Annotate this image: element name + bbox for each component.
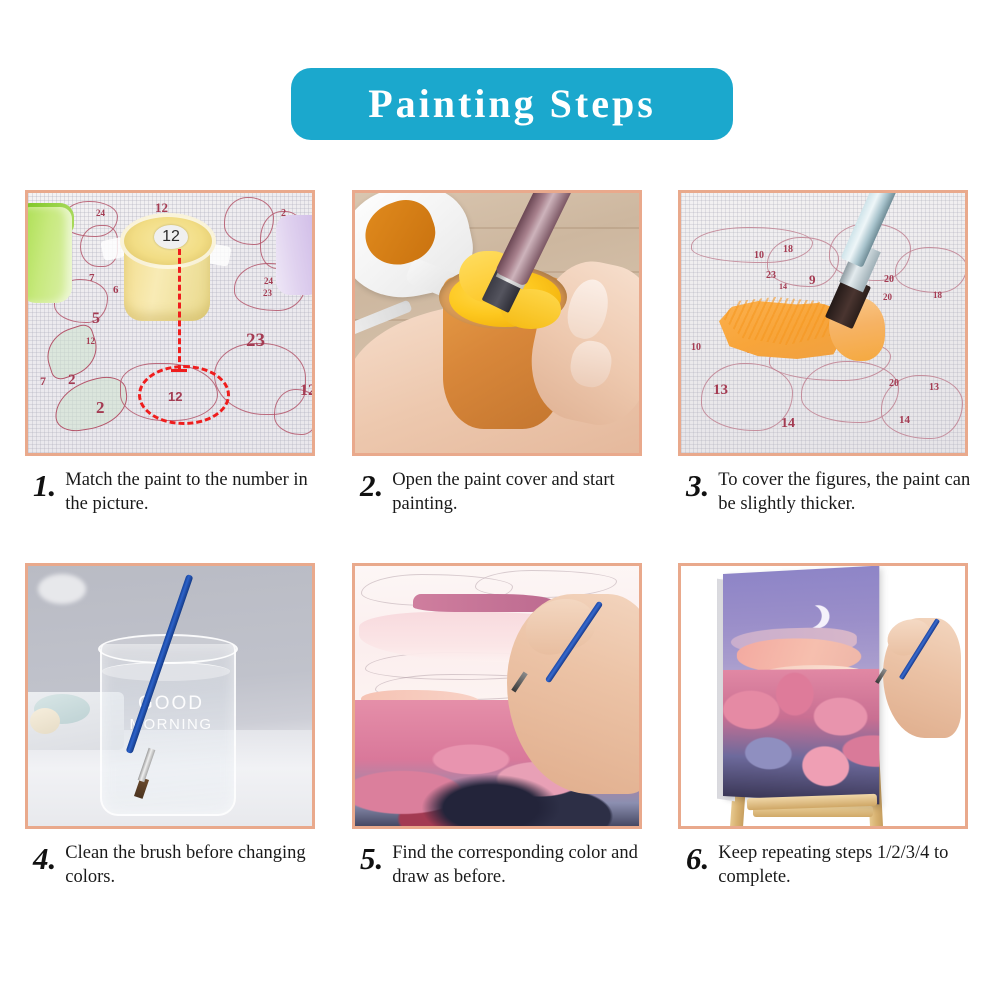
- step-text: Keep repeating steps 1/2/3/4 to complete…: [718, 841, 974, 890]
- canvas-number: 2: [68, 373, 76, 388]
- canvas-number: 9: [809, 273, 816, 286]
- canvas-number: 23: [263, 289, 272, 298]
- step-text: To cover the figures, the paint can be s…: [718, 468, 974, 517]
- water-line: [102, 662, 230, 681]
- paint-pot-number-label: 12: [154, 225, 188, 249]
- step-card-3: 10 18 23 14 9 20 18 20 13 14 20 10 20 13…: [678, 190, 974, 517]
- canvas-number: 20: [889, 379, 899, 389]
- step-number: 3.: [686, 470, 709, 501]
- canvas-number: 6: [113, 285, 119, 296]
- step-number: 6.: [686, 843, 709, 874]
- step-caption-3: 3. To cover the figures, the paint can b…: [678, 468, 974, 517]
- step-caption-2: 2. Open the paint cover and start painti…: [352, 468, 648, 517]
- step-caption-4: 4. Clean the brush before changing color…: [25, 841, 321, 890]
- paint-residue-on-lid: [357, 193, 444, 274]
- canvas-number: 24: [264, 277, 273, 286]
- step-number: 1.: [33, 470, 56, 501]
- canvas-number: 13: [929, 383, 939, 393]
- red-dashed-highlight-ellipse: [138, 365, 230, 425]
- step-card-1: 12 24 2 7 6 5 12 2 7 2 23 24 23 12: [25, 190, 321, 517]
- step-text: Open the paint cover and start painting.: [392, 468, 642, 517]
- canvas-number: 10: [754, 251, 764, 261]
- dark-pink-cloud-paint: [413, 594, 553, 612]
- step-card-6: 6. Keep repeating steps 1/2/3/4 to compl…: [678, 563, 974, 890]
- step-caption-1: 1. Match the paint to the number in the …: [25, 468, 321, 517]
- canvas-outline-shape: [895, 247, 965, 293]
- step-card-2: 2. Open the paint cover and start painti…: [352, 190, 648, 517]
- step-photo-frame-5: [352, 563, 642, 829]
- canvas-number: 12: [86, 337, 95, 346]
- canvas-number: 13: [713, 383, 728, 398]
- green-paint-pot: [28, 207, 72, 303]
- step-photo-frame-3: 10 18 23 14 9 20 18 20 13 14 20 10 20 13…: [678, 190, 968, 456]
- step-photo-frame-1: 12 24 2 7 6 5 12 2 7 2 23 24 23 12: [25, 190, 315, 456]
- step-caption-5: 5. Find the corresponding color and draw…: [352, 841, 648, 890]
- brush-in-water-glass-photo: GOOD MORNING: [28, 566, 312, 826]
- painting-steps-infographic: Painting Steps 12: [0, 0, 1000, 1000]
- step-text: Clean the brush before changing colors.: [65, 841, 315, 890]
- step-number: 2.: [360, 470, 383, 501]
- steps-grid: 12 24 2 7 6 5 12 2 7 2 23 24 23 12: [0, 0, 1000, 1000]
- canvas-number: 20: [884, 275, 894, 285]
- canvas-number: 14: [781, 417, 795, 431]
- paint-pot-on-numbered-canvas-photo: 12 24 2 7 6 5 12 2 7 2 23 24 23 12: [28, 193, 312, 453]
- canvas-number: 18: [933, 291, 942, 300]
- highlighted-canvas-number: 12: [168, 389, 182, 404]
- finished-painting-on-easel-photo: [681, 566, 965, 826]
- step-photo-frame-4: GOOD MORNING: [25, 563, 315, 829]
- step-card-4: GOOD MORNING 4. Clean the brush before c…: [25, 563, 321, 890]
- step-photo-frame-6: [678, 563, 968, 829]
- step-text: Match the paint to the number in the pic…: [65, 468, 315, 517]
- step-number: 5.: [360, 843, 383, 874]
- step-text: Find the corresponding color and draw as…: [392, 841, 642, 890]
- step-card-5: 5. Find the corresponding color and draw…: [352, 563, 648, 890]
- canvas-number: 24: [96, 209, 105, 218]
- finished-canvas: [723, 566, 879, 804]
- canvas-number: 7: [89, 273, 95, 284]
- canvas-number: 14: [779, 283, 787, 291]
- purple-paint-pot: [276, 215, 312, 295]
- canvas-number: 2: [96, 399, 105, 416]
- hand-painting-canvas-photo: [355, 566, 639, 826]
- canvas-number: 18: [783, 245, 793, 255]
- canvas-number: 23: [246, 331, 265, 350]
- canvas-number: 20: [883, 293, 892, 302]
- cherry-blossoms-painted: [723, 669, 879, 805]
- step-photo-frame-2: [352, 190, 642, 456]
- step-caption-6: 6. Keep repeating steps 1/2/3/4 to compl…: [678, 841, 974, 890]
- canvas-number: 7: [40, 375, 46, 387]
- hand-holding-open-paint-pot-photo: [355, 193, 639, 453]
- dark-foliage: [421, 774, 561, 826]
- brush-applying-paint-photo: 10 18 23 14 9 20 18 20 13 14 20 10 20 13…: [681, 193, 965, 453]
- canvas-number: 23: [766, 271, 776, 281]
- canvas-outline-shape: [767, 237, 839, 287]
- canvas-number: 5: [92, 311, 100, 327]
- canvas-number: 14: [899, 415, 910, 426]
- blurred-object: [38, 574, 86, 604]
- canvas-number: 12: [300, 383, 312, 399]
- step-number: 4.: [33, 843, 56, 874]
- canvas-number: 10: [691, 343, 701, 353]
- blurred-object: [30, 708, 60, 734]
- red-dashed-guide-line: [178, 249, 181, 371]
